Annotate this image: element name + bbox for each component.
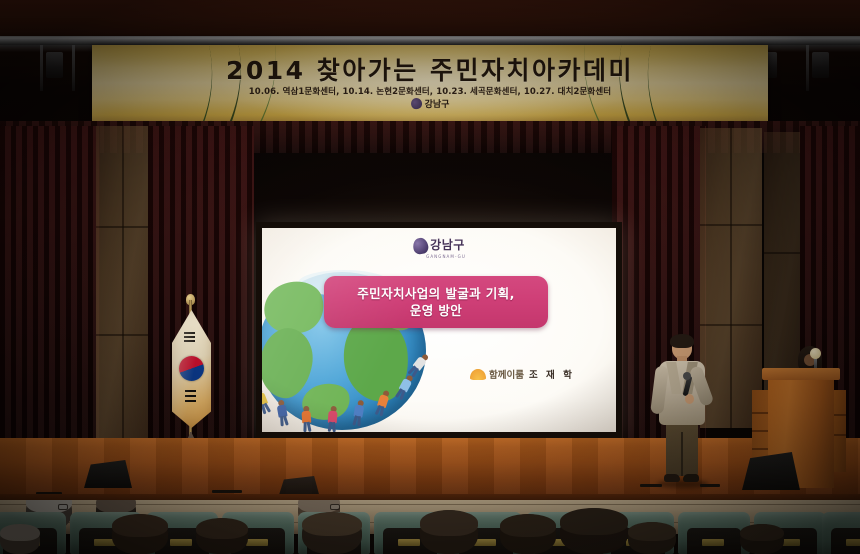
- rigging-cable: [806, 45, 809, 91]
- audience-head: [740, 524, 784, 554]
- audience-head: [500, 514, 556, 554]
- stage-curtain-left: [0, 126, 100, 456]
- event-banner: 2014 찾아가는 주민자치아카데미 10.06. 역삼1문화센터, 10.14…: [92, 45, 768, 121]
- wall-panel-left: [96, 126, 150, 446]
- presenter-organization: 함께이룸: [489, 367, 524, 381]
- stage-light: [46, 52, 63, 78]
- audience-head: [420, 510, 478, 554]
- lectern-top: [762, 368, 840, 380]
- presenter-shoe-right: [683, 474, 699, 482]
- audience-head: [628, 522, 676, 554]
- stage-light: [812, 52, 829, 78]
- auditorium-photo: 2014 찾아가는 주민자치아카데미 10.06. 역삼1문화센터, 10.14…: [0, 0, 860, 554]
- flag-highlight: [172, 310, 211, 428]
- banner-title: 2014 찾아가는 주민자치아카데미: [92, 51, 768, 87]
- illustrated-person: [301, 406, 312, 432]
- eyeglasses: [330, 504, 340, 510]
- slide-presenter-credit: 함께이룸조 재 학: [470, 364, 574, 383]
- hamkkeiroom-logo-icon: [470, 369, 486, 380]
- lectern-side-right: [832, 390, 846, 472]
- rigging-cable: [72, 45, 75, 91]
- slide-gangnam-logo: 강남구 GANGNAM-GU: [412, 236, 466, 259]
- lighting-truss: [0, 36, 860, 45]
- microphone-head-icon: [683, 372, 691, 380]
- lectern-microphone-head-icon: [810, 348, 821, 359]
- presenter-hand: [685, 394, 694, 404]
- audience-head: [0, 524, 40, 554]
- audience-head: [560, 508, 628, 554]
- rigging-cable: [40, 45, 43, 91]
- presenter-name: 조 재 학: [529, 367, 574, 381]
- audience-head: [302, 512, 362, 554]
- gangnam-gu-logo-icon: [410, 97, 422, 109]
- slide-title-line-1: 주민자치사업의 발굴과 기획,: [357, 285, 514, 302]
- auditorium-seat[interactable]: [822, 512, 860, 554]
- presenter-leg-gap: [681, 432, 683, 476]
- slide-logo-label: 강남구: [430, 236, 465, 253]
- stage-floor-reflection: [0, 438, 860, 502]
- cable-tape: [700, 484, 720, 487]
- illustrated-person: [327, 406, 338, 432]
- banner-organizer: 강남구: [92, 97, 768, 110]
- audience-head: [112, 514, 168, 554]
- slide-title-box: 주민자치사업의 발굴과 기획, 운영 방안: [324, 276, 548, 328]
- audience-head: [196, 518, 248, 554]
- eyeglasses: [58, 504, 68, 510]
- slide-title-line-2: 운영 방안: [410, 302, 462, 319]
- banner-schedule: 10.06. 역삼1문화센터, 10.14. 논현2문화센터, 10.23. 세…: [92, 85, 768, 97]
- cable-tape: [640, 484, 662, 487]
- audience-area: [0, 500, 860, 554]
- presenter-on-stage: [655, 336, 709, 486]
- presenter-hair: [670, 334, 694, 348]
- gangnam-gu-logo-icon: [412, 237, 430, 255]
- wall-panel-right: [700, 128, 762, 428]
- presenter-shoe-left: [664, 474, 680, 482]
- banner-organizer-label: 강남구: [425, 100, 450, 110]
- projection-screen: 강남구 GANGNAM-GU: [262, 228, 616, 432]
- slide-logo-sublabel: GANGNAM-GU: [426, 254, 466, 259]
- cable-tape: [212, 490, 242, 493]
